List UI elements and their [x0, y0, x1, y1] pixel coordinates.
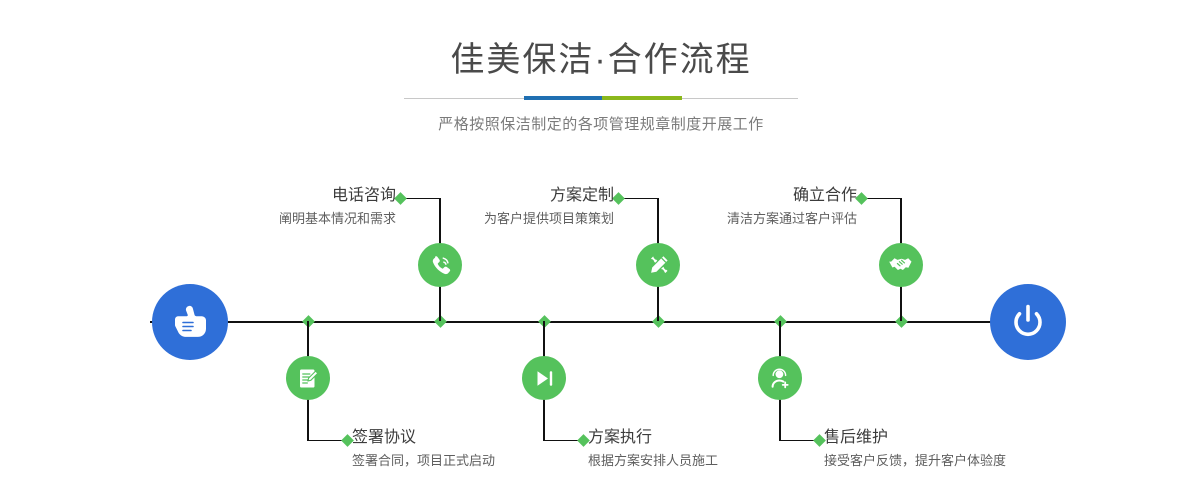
flow-label-step-4-title: 方案执行: [588, 428, 808, 448]
flow-label-step-3-title: 方案定制: [420, 186, 614, 206]
flow-label-step-2-title: 签署协议: [352, 428, 572, 448]
flow-label-step-6: 售后维护 接受客户反馈，提升客户体验度: [824, 428, 1074, 470]
flow-start-marker: [152, 284, 228, 360]
pointing-hand-icon: [169, 301, 211, 343]
flow-label-step-5-title: 确立合作: [665, 186, 857, 206]
play-execute-icon: [532, 366, 557, 391]
flow-label-step-1: 电话咨询 阐明基本情况和需求: [200, 186, 396, 228]
flow-label-step-6-title: 售后维护: [824, 428, 1074, 448]
flow-label-step-1-title: 电话咨询: [200, 186, 396, 206]
customer-support-icon: [768, 366, 793, 391]
cooperation-flow-infographic: 佳美保洁·合作流程 严格按照保洁制定的各项管理规章制度开展工作: [0, 0, 1202, 502]
flow-label-step-6-desc: 接受客户反馈，提升客户体验度: [824, 452, 1074, 470]
timeline-axis: [150, 321, 1052, 323]
handshake-icon: [888, 252, 914, 278]
flow-node-step-6: [758, 356, 802, 400]
flow-node-step-1: [418, 243, 462, 287]
label-marker-step-3: [612, 192, 625, 205]
sign-document-icon: [296, 366, 321, 391]
flow-label-step-1-desc: 阐明基本情况和需求: [200, 210, 396, 228]
flow-node-step-4: [522, 356, 566, 400]
flow-node-step-2: [286, 356, 330, 400]
flow-label-step-2-desc: 签署合同，项目正式启动: [352, 452, 572, 470]
flow-label-step-3-desc: 为客户提供项目策策划: [420, 210, 614, 228]
label-marker-step-5: [855, 192, 868, 205]
flow-label-step-5: 确立合作 清洁方案通过客户评估: [665, 186, 857, 228]
flow-label-step-4: 方案执行 根据方案安排人员施工: [588, 428, 808, 470]
label-marker-step-1: [394, 192, 407, 205]
flow-diagram: 电话咨询 阐明基本情况和需求 签署协议 签署合同，项目正式启动: [0, 0, 1202, 502]
flow-label-step-3: 方案定制 为客户提供项目策策划: [420, 186, 614, 228]
flow-label-step-5-desc: 清洁方案通过客户评估: [665, 210, 857, 228]
flow-node-step-5: [879, 243, 923, 287]
phone-call-icon: [428, 253, 453, 278]
power-icon: [1007, 301, 1049, 343]
flow-label-step-2: 签署协议 签署合同，项目正式启动: [352, 428, 572, 470]
flow-end-marker: [990, 284, 1066, 360]
pencil-ruler-icon: [646, 253, 671, 278]
flow-node-step-3: [636, 243, 680, 287]
flow-label-step-4-desc: 根据方案安排人员施工: [588, 452, 808, 470]
